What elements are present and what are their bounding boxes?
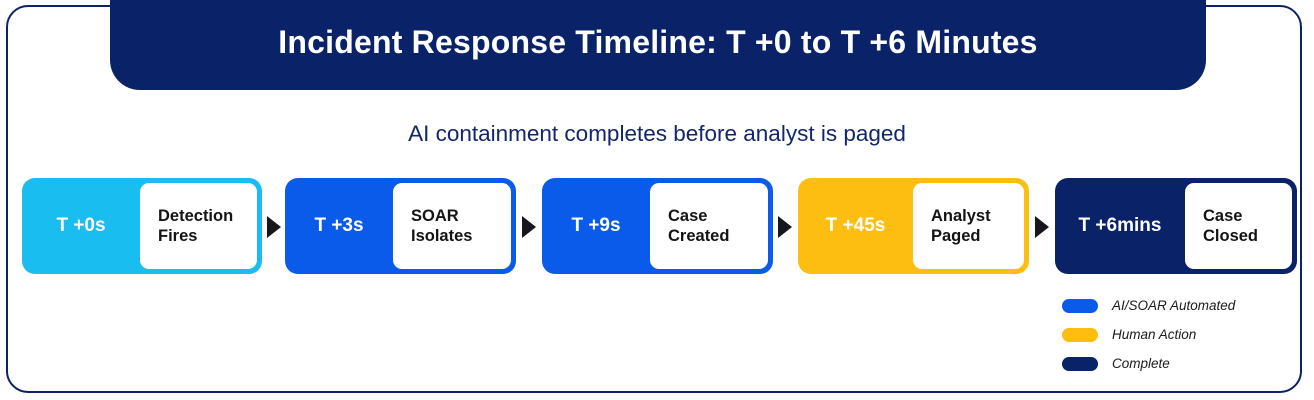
legend-item: Human Action <box>1062 320 1292 349</box>
legend: AI/SOAR AutomatedHuman ActionComplete <box>1062 291 1292 378</box>
timeline-step[interactable]: T +3sSOAR Isolates <box>285 178 516 274</box>
legend-item-label: Complete <box>1112 356 1170 371</box>
timeline-step-label-box: Detection Fires <box>140 183 257 269</box>
timeline-step-time: T +9s <box>542 215 650 237</box>
timeline-step[interactable]: T +9sCase Created <box>542 178 773 274</box>
legend-swatch-icon <box>1062 328 1098 342</box>
step-connector-arrow-icon <box>1035 216 1049 238</box>
legend-swatch-icon <box>1062 357 1098 371</box>
timeline-step[interactable]: T +45sAnalyst Paged <box>798 178 1029 274</box>
timeline-step-label: Case Closed <box>1203 206 1258 246</box>
step-connector-arrow-icon <box>778 216 792 238</box>
legend-item-label: AI/SOAR Automated <box>1112 298 1235 313</box>
timeline-step-label: SOAR Isolates <box>411 206 472 246</box>
timeline-step-time: T +0s <box>22 215 140 237</box>
title-banner: Incident Response Timeline: T +0 to T +6… <box>110 0 1206 90</box>
legend-item: Complete <box>1062 349 1292 378</box>
page-title: Incident Response Timeline: T +0 to T +6… <box>278 26 1037 64</box>
timeline-step-label: Case Created <box>668 206 729 246</box>
step-connector-arrow-icon <box>522 216 536 238</box>
timeline-step[interactable]: T +0sDetection Fires <box>22 178 262 274</box>
timeline-steps-row: T +0sDetection FiresT +3sSOAR IsolatesT … <box>22 178 1297 274</box>
incident-response-timeline-infographic: Incident Response Timeline: T +0 to T +6… <box>0 0 1314 400</box>
timeline-step-label: Analyst Paged <box>931 206 991 246</box>
timeline-step-time: T +45s <box>798 215 913 237</box>
timeline-step-label-box: SOAR Isolates <box>393 183 511 269</box>
legend-item-label: Human Action <box>1112 327 1196 342</box>
timeline-step-label-box: Case Created <box>650 183 768 269</box>
step-connector-arrow-icon <box>267 216 281 238</box>
subtitle-text: AI containment completes before analyst … <box>0 120 1314 147</box>
timeline-step-label-box: Analyst Paged <box>913 183 1024 269</box>
legend-swatch-icon <box>1062 299 1098 313</box>
timeline-step[interactable]: T +6minsCase Closed <box>1055 178 1297 274</box>
timeline-step-label: Detection Fires <box>158 206 233 246</box>
legend-item: AI/SOAR Automated <box>1062 291 1292 320</box>
timeline-step-time: T +3s <box>285 215 393 237</box>
timeline-step-time: T +6mins <box>1055 215 1185 237</box>
timeline-step-label-box: Case Closed <box>1185 183 1292 269</box>
